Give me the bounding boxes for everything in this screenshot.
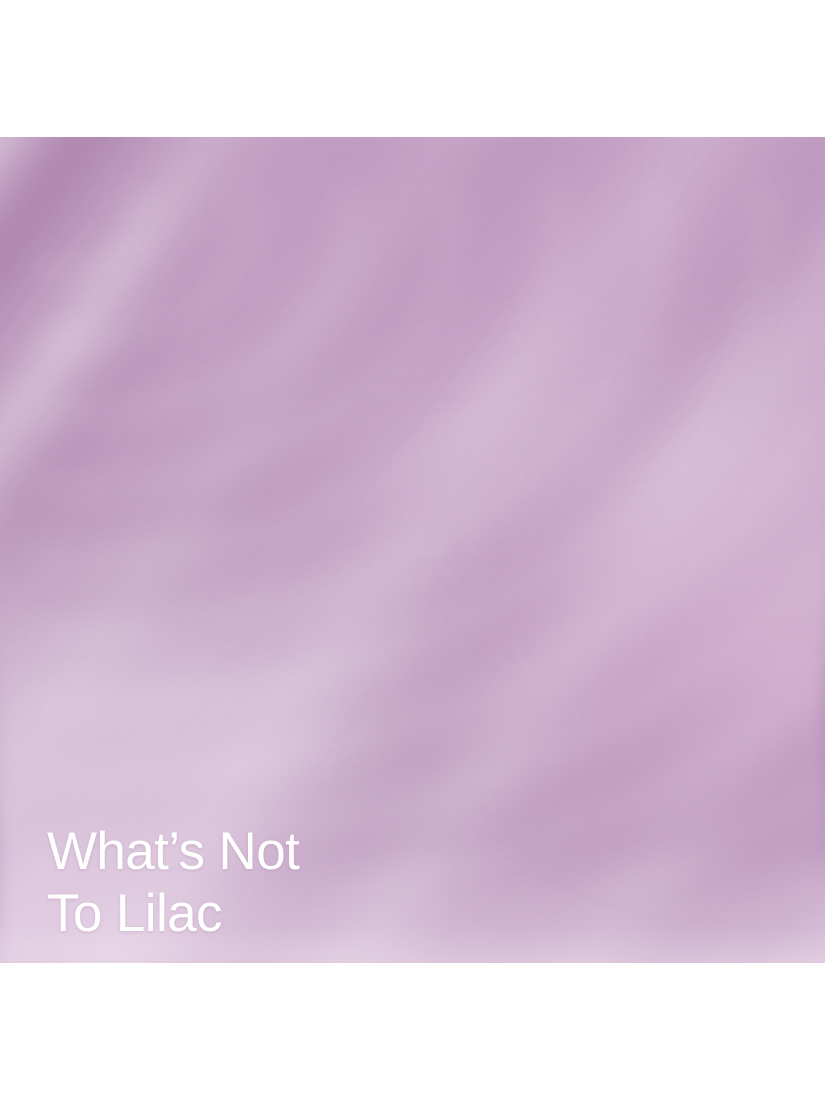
product-hero-page: What’s Not To Lilac An opaque, soft purp… <box>0 0 825 1100</box>
lilac-polish-swatch-image: What’s Not To Lilac An opaque, soft purp… <box>0 137 825 963</box>
product-caption-block: What’s Not To Lilac An opaque, soft purp… <box>47 821 777 963</box>
product-description: An opaque, soft purple statement polish … <box>47 945 777 963</box>
product-shade-name: What’s Not To Lilac <box>47 821 777 945</box>
